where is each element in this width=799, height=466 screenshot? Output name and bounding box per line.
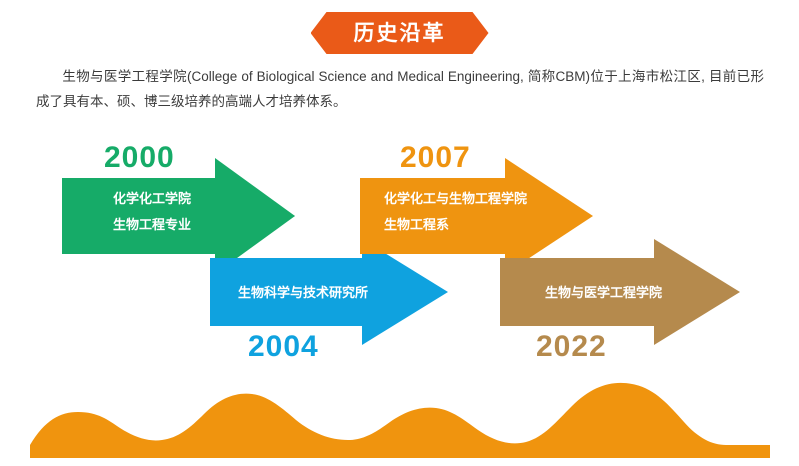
timeline-arrow-head-2000 [215,158,295,274]
timeline-label-2007-line1: 化学化工与生物工程学院 [384,186,527,212]
timeline-label-2004-line1: 生物科学与技术研究所 [238,280,368,306]
timeline-label-2004: 生物科学与技术研究所 [238,280,368,306]
timeline-arrow-head-2022 [654,239,740,345]
timeline-year-2022: 2022 [536,332,607,362]
timeline-label-2000-line2: 生物工程专业 [113,212,191,238]
timeline-label-2000: 化学化工学院 生物工程专业 [113,186,191,238]
timeline-label-2000-line1: 化学化工学院 [113,186,191,212]
timeline-year-2000: 2000 [104,143,175,173]
timeline-label-2022: 生物与医学工程学院 [545,280,662,306]
bottom-wave-decoration [0,370,799,466]
timeline-label-2007-line2: 生物工程系 [384,212,527,238]
timeline-arrow-head-2004 [362,239,448,345]
timeline-label-2022-line1: 生物与医学工程学院 [545,280,662,306]
timeline-year-2007: 2007 [400,143,471,173]
timeline-year-2004: 2004 [248,332,319,362]
timeline-label-2007: 化学化工与生物工程学院 生物工程系 [384,186,527,238]
